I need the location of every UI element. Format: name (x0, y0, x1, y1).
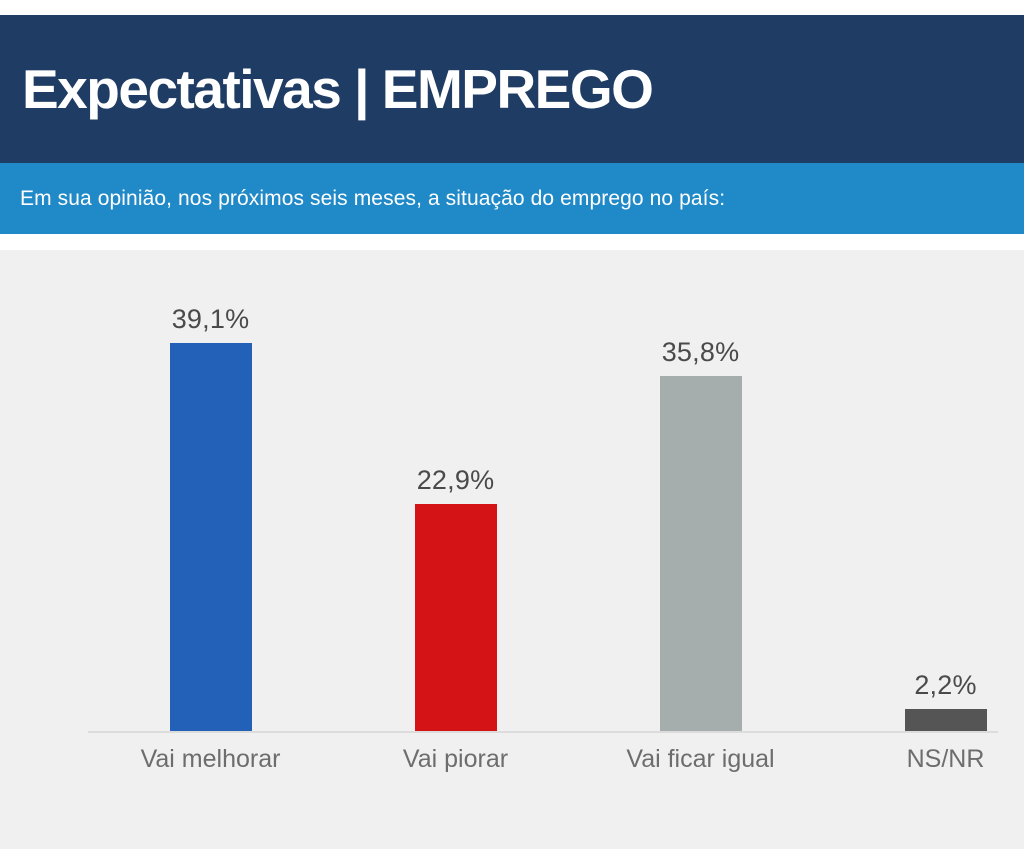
bar-value-label: 2,2% (914, 670, 976, 701)
bar-value-label: 22,9% (417, 465, 495, 496)
bar-4[interactable] (905, 709, 987, 731)
x-axis-labels: Vai melhorarVai piorarVai ficar igualNS/… (0, 745, 1024, 795)
bar-series: 39,1%22,9%35,8%2,2% (0, 250, 1024, 731)
bar-2[interactable] (415, 504, 497, 731)
bar-value-label: 39,1% (172, 304, 250, 335)
bar-1[interactable] (170, 343, 252, 731)
bar-group: 39,1% (88, 250, 333, 731)
category-label: Vai melhorar (88, 745, 333, 774)
bar-group: 22,9% (333, 250, 578, 731)
bar-group: 35,8% (578, 250, 823, 731)
question-text: Em sua opinião, nos próximos seis meses,… (20, 187, 725, 211)
bar-3[interactable] (660, 376, 742, 731)
subtitle-band: Em sua opinião, nos próximos seis meses,… (0, 163, 1024, 234)
page-title: Expectativas | EMPREGO (22, 62, 652, 117)
x-axis-line (88, 731, 998, 733)
bar-value-label: 35,8% (662, 337, 740, 368)
band-divider (0, 234, 1024, 250)
title-band: Expectativas | EMPREGO (0, 15, 1024, 163)
slide-root: Expectativas | EMPREGO Em sua opinião, n… (0, 0, 1024, 849)
bar-group: 2,2% (823, 250, 1024, 731)
category-label: Vai piorar (333, 745, 578, 774)
category-label: NS/NR (823, 745, 1024, 774)
chart-panel: 39,1%22,9%35,8%2,2% Vai melhorarVai pior… (0, 250, 1024, 849)
category-label: Vai ficar igual (578, 745, 823, 774)
